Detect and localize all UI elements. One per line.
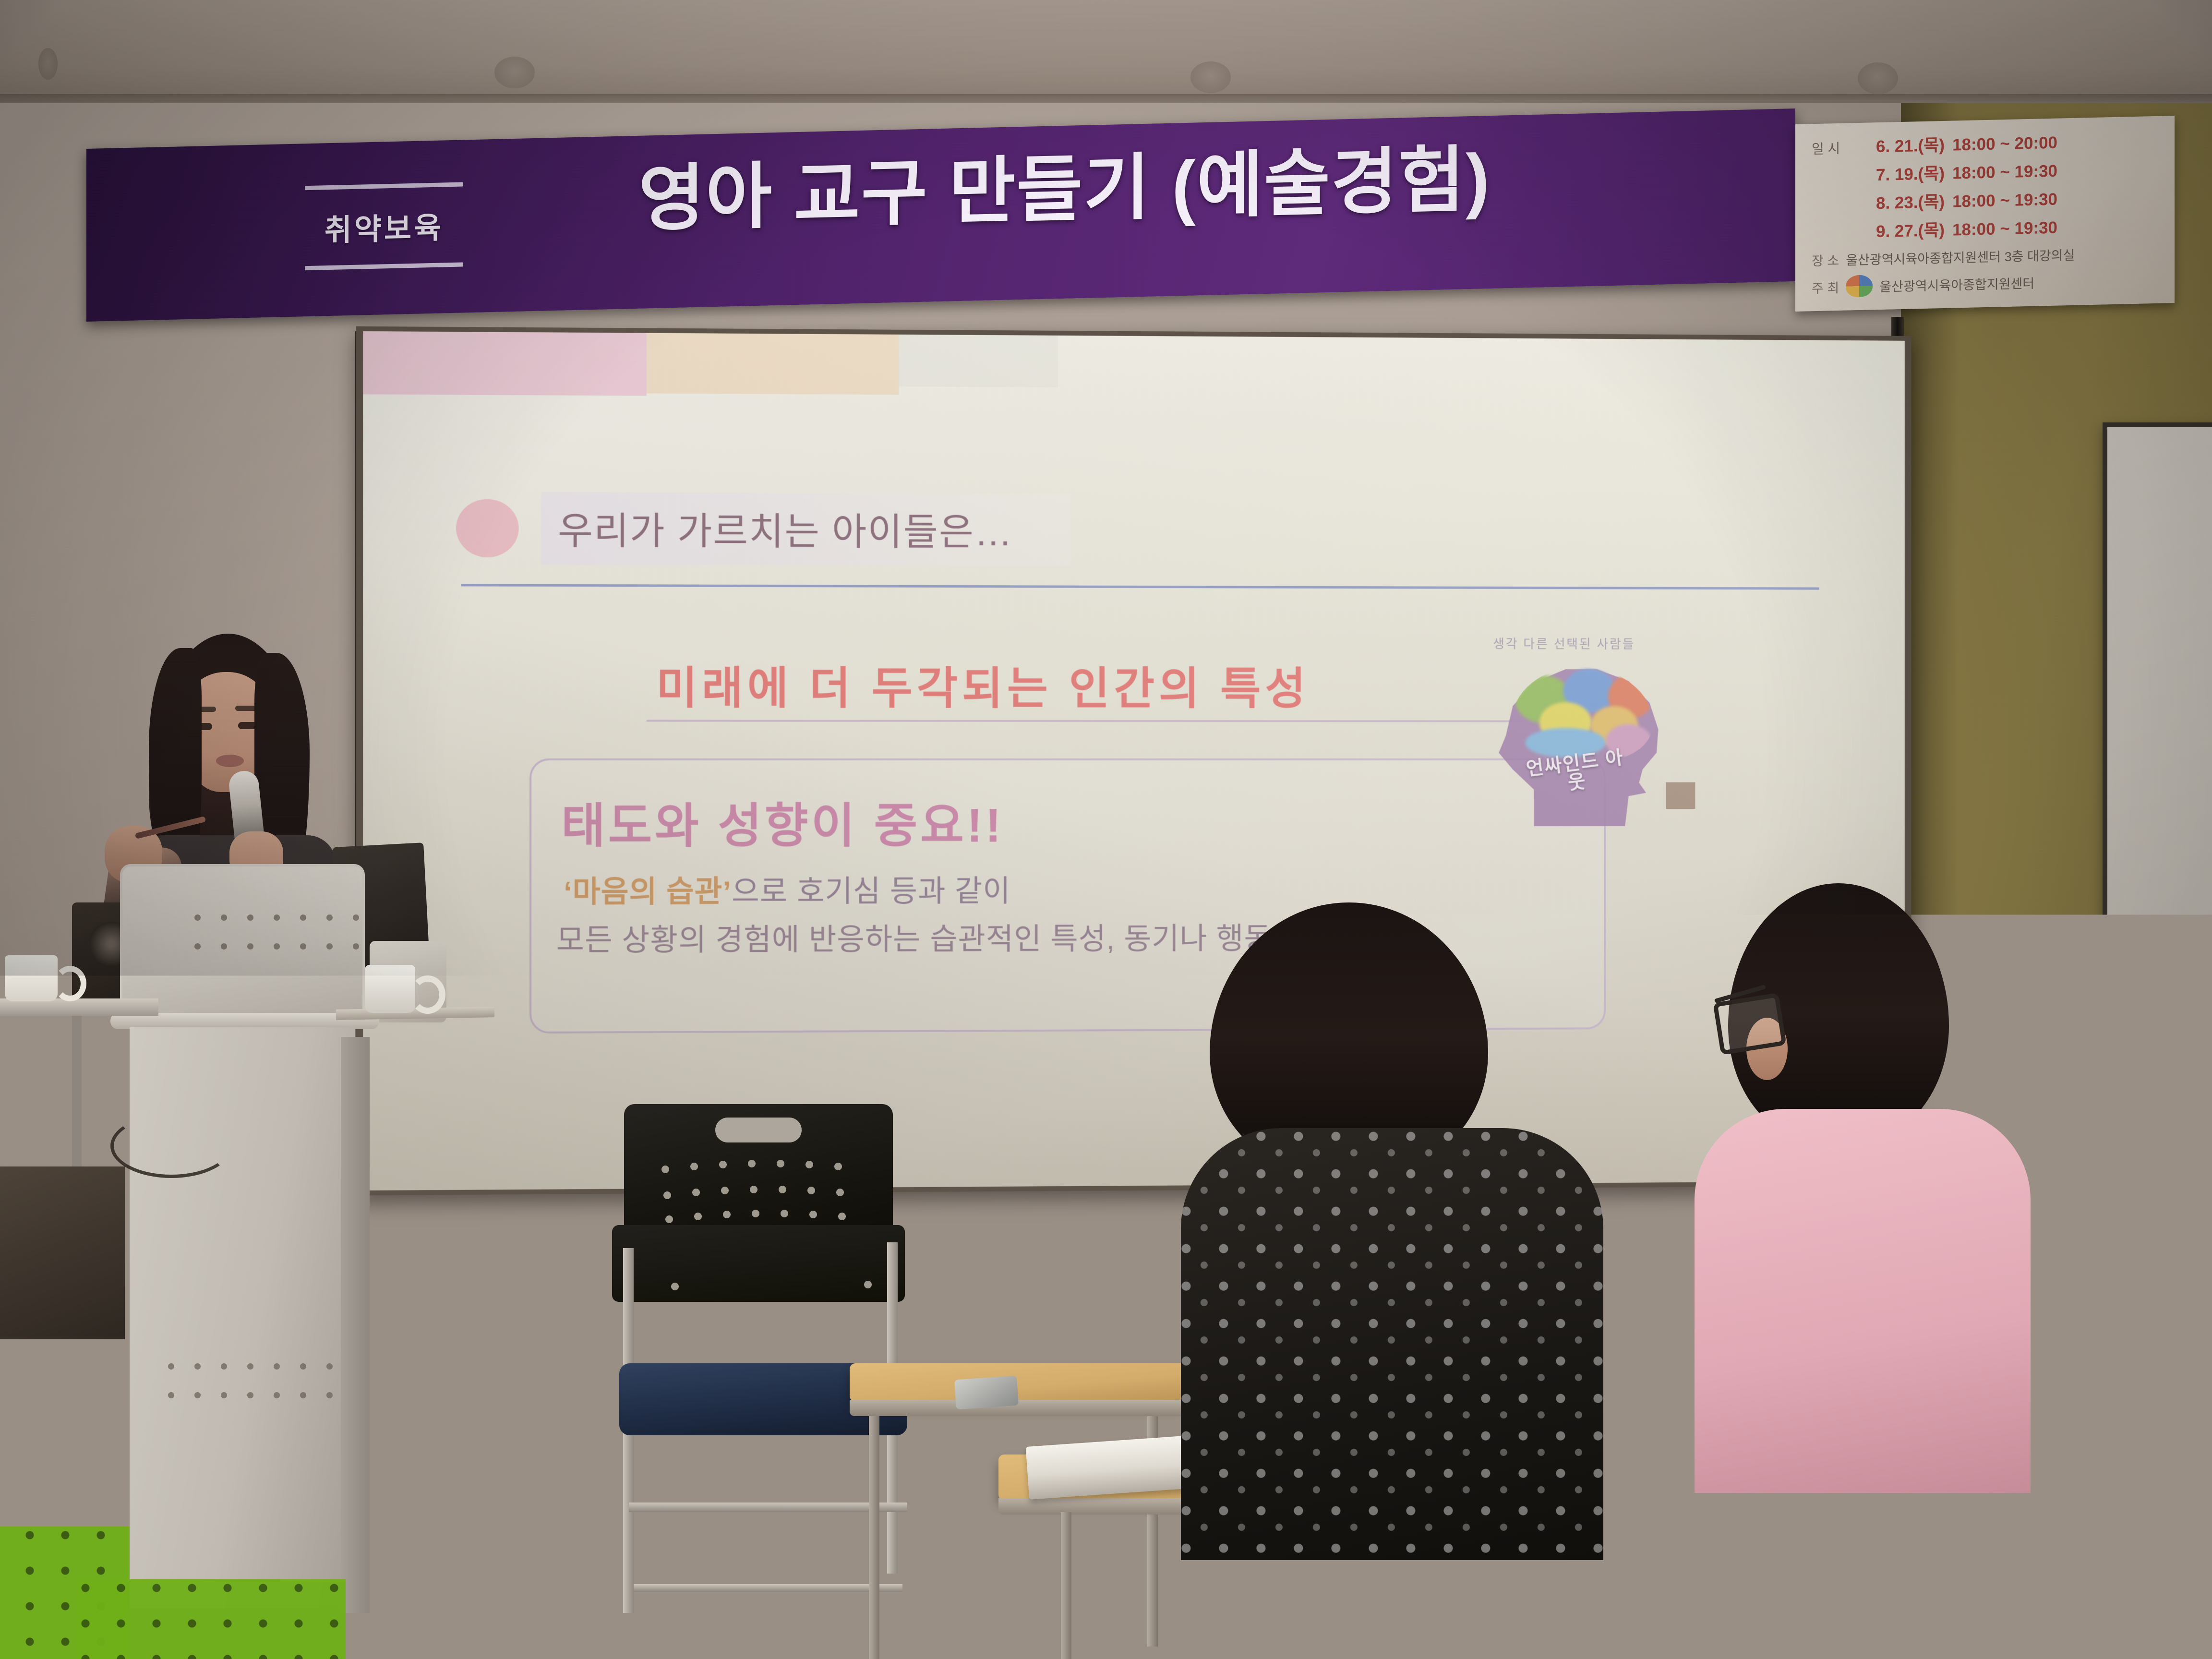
schedule-row: 9. 27.(목) 18:00 ~ 19:30 (1812, 211, 2166, 244)
book-cover-thumbnail: 생각 다른 선택된 사람들 언싸인드 아웃 (1474, 634, 1678, 840)
slide-pink-headline: 태도와 성향이 중요!! (561, 787, 1004, 856)
chair-handle-slot-icon (715, 1118, 802, 1142)
ceiling-light-icon (1190, 61, 1231, 93)
audience-member (1527, 1118, 2212, 1659)
banner-rule-top (305, 182, 463, 190)
schedule-label-blank (1812, 238, 1868, 239)
schedule-time: 18:00 ~ 19:30 (1952, 162, 2057, 183)
lectern-perforation-row (168, 1363, 333, 1370)
schedule-row: 일 시 6. 21.(목) 18:00 ~ 20:00 (1812, 126, 2166, 159)
cup (365, 965, 415, 1013)
host-row: 주 최 울산광역시육아종합지원센터 (1812, 268, 2166, 298)
banner-rule-bottom (305, 262, 463, 270)
slide-accent-bar-tan (647, 333, 899, 395)
place-value: 울산광역시육아종합지원센터 3층 대강의실 (1846, 245, 2075, 269)
place-row: 장 소 울산광역시육아종합지원센터 3층 대강의실 (1812, 242, 2166, 269)
event-info-card: 일 시 6. 21.(목) 18:00 ~ 20:00 7. 19.(목) 18… (1795, 116, 2175, 312)
lectern-side-panel (341, 1037, 370, 1613)
ceiling-seam (0, 94, 2212, 103)
chair-rail (629, 1503, 907, 1512)
storage-box (0, 1166, 125, 1339)
slide-body-highlight: ‘마음의 습관’ (564, 875, 732, 909)
slide-accent-bar-pale (899, 335, 1058, 387)
schedule-time: 18:00 ~ 20:00 (1952, 133, 2057, 155)
banner-main-title: 영아 교구 만들기 (예술경험) (638, 133, 1743, 240)
banner-side-label-group: 취약보육 (288, 157, 480, 296)
lectern-perforation-row (194, 943, 359, 950)
whiteboard (2103, 422, 2212, 1114)
bullet-dot-icon (456, 499, 518, 558)
audience-torso (1527, 1387, 2212, 1659)
slide-red-headline: 미래에 더 두각되는 인간의 특성 (656, 652, 1310, 717)
ceiling-light-icon (38, 48, 58, 80)
slide-body-rest: 으로 호기심 등과 같이 (732, 875, 1010, 908)
schedule-row: 8. 23.(목) 18:00 ~ 19:30 (1812, 183, 2166, 216)
lectern (110, 864, 398, 1613)
schedule-time: 18:00 ~ 19:30 (1952, 218, 2057, 240)
ceiling-light-icon (1858, 62, 1898, 94)
cable (110, 1114, 232, 1178)
banner-side-label: 취약보육 (325, 203, 444, 249)
host-value: 울산광역시육아종합지원센터 (1879, 273, 2034, 295)
schedule-label-blank (1812, 181, 1868, 182)
brain-illustration (1511, 667, 1653, 762)
chair-lower-panel (612, 1225, 905, 1302)
slide-header-rule (461, 584, 1819, 589)
desk-leg (1061, 1512, 1071, 1659)
schedule-date: 6. 21.(목) (1876, 132, 1945, 157)
slide-body-line-1: ‘마음의 습관’으로 호기심 등과 같이 (564, 866, 1010, 911)
book-corner-chip (1666, 782, 1695, 809)
mug-handle-icon (54, 966, 86, 1001)
presenter-mouth (216, 755, 244, 767)
slide-header-pill: 우리가 가르치는 아이들은… (541, 492, 1070, 566)
chair-rail-lower (634, 1584, 902, 1592)
schedule-label-blank (1812, 209, 1868, 211)
slide-accent-bar-pink (363, 331, 647, 396)
slide-header-group: 우리가 가르치는 아이들은… (456, 492, 1070, 566)
schedule-row: 7. 19.(목) 18:00 ~ 19:30 (1812, 155, 2166, 187)
smartphone[interactable] (954, 1376, 1019, 1410)
book-caption: 생각 다른 선택된 사람들 (1493, 634, 1635, 652)
place-label: 장 소 (1812, 250, 1839, 269)
schedule-date: 9. 27.(목) (1876, 216, 1945, 242)
desk-leg (869, 1416, 879, 1659)
ceiling-light-icon (494, 57, 535, 88)
schedule-time: 18:00 ~ 19:30 (1952, 190, 2057, 212)
schedule-label: 일 시 (1812, 138, 1868, 158)
mug (5, 955, 58, 1001)
organization-logo-icon (1846, 275, 1873, 297)
slide-red-underline (647, 720, 1522, 722)
lectern-perforation-row (194, 914, 359, 921)
slide-header-text: 우리가 가르치는 아이들은… (558, 501, 1013, 556)
lecture-room-photo: 취약보육 영아 교구 만들기 (예술경험) 일 시 6. 21.(목) 18:0… (0, 0, 2212, 1659)
green-crate (77, 1579, 346, 1659)
lectern-perforation-row (168, 1392, 333, 1398)
host-label: 주 최 (1812, 277, 1839, 296)
schedule-date: 8. 23.(목) (1876, 188, 1945, 214)
schedule-date: 7. 19.(목) (1876, 160, 1945, 186)
cup-handle-icon (410, 975, 445, 1014)
